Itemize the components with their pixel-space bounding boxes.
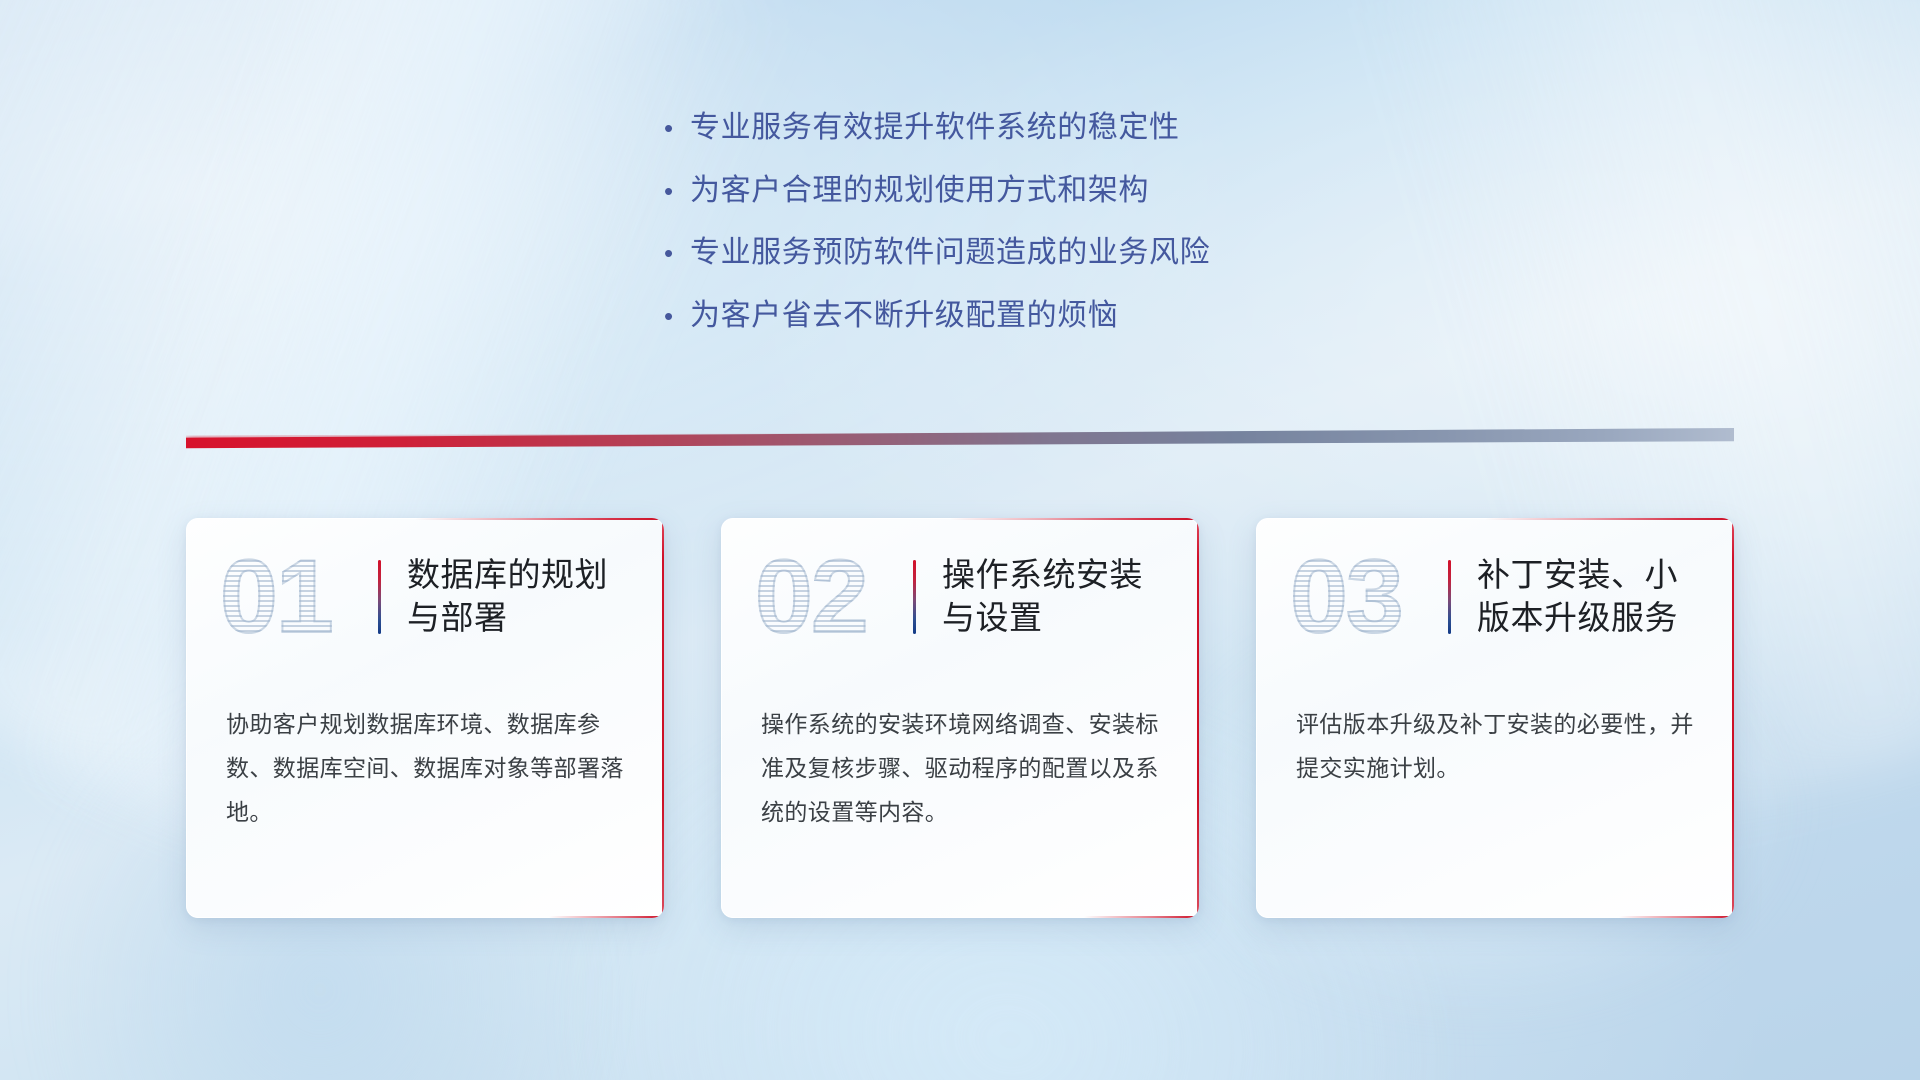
bullet-label: 专业服务有效提升软件系统的稳定性 [690, 108, 1180, 148]
bullet-label: 专业服务预防软件问题造成的业务风险 [690, 233, 1210, 273]
card-accent-bottom-line [1084, 916, 1199, 918]
list-item: • 专业服务有效提升软件系统的稳定性 [664, 108, 1464, 148]
divider-glow [186, 430, 1734, 444]
list-item: • 为客户省去不断升级配置的烦恼 [664, 296, 1464, 336]
bullet-dot-icon: • [664, 303, 690, 329]
card-title-rule [913, 560, 916, 634]
card-title-rule [378, 560, 381, 634]
bullet-label: 为客户省去不断升级配置的烦恼 [690, 296, 1118, 336]
slide-canvas: • 专业服务有效提升软件系统的稳定性 • 为客户合理的规划使用方式和架构 • 专… [0, 0, 1920, 1080]
service-card-01[interactable]: 01 数据库的规划与部署 协助客户规划数据库环境、数据库参数、数据库空间、数据库… [186, 518, 664, 918]
card-description: 协助客户规划数据库环境、数据库参数、数据库空间、数据库对象等部署落地。 [186, 676, 664, 834]
card-description: 操作系统的安装环境网络调查、安装标准及复核步骤、驱动程序的配置以及系统的设置等内… [721, 676, 1199, 834]
card-accent-bottom-line [549, 916, 664, 918]
card-description: 评估版本升级及补丁安装的必要性，并提交实施计划。 [1256, 676, 1734, 790]
card-title: 补丁安装、小版本升级服务 [1477, 554, 1708, 640]
bullet-dot-icon: • [664, 115, 690, 141]
bullet-dot-icon: • [664, 240, 690, 266]
section-divider [186, 428, 1734, 450]
service-card-02[interactable]: 02 操作系统安装与设置 操作系统的安装环境网络调查、安装标准及复核步骤、驱动程… [721, 518, 1199, 918]
card-header: 01 数据库的规划与部署 [186, 518, 664, 676]
card-accent-bottom-line [1619, 916, 1734, 918]
card-title: 操作系统安装与设置 [942, 554, 1173, 640]
benefits-bullet-list: • 专业服务有效提升软件系统的稳定性 • 为客户合理的规划使用方式和架构 • 专… [664, 108, 1464, 358]
list-item: • 专业服务预防软件问题造成的业务风险 [664, 233, 1464, 273]
bullet-dot-icon: • [664, 178, 690, 204]
card-index-number: 02 [751, 545, 905, 649]
card-title-rule [1448, 560, 1451, 634]
card-index-number: 03 [1286, 545, 1440, 649]
card-index-number: 01 [216, 545, 370, 649]
card-header: 03 补丁安装、小版本升级服务 [1256, 518, 1734, 676]
service-card-row: 01 数据库的规划与部署 协助客户规划数据库环境、数据库参数、数据库空间、数据库… [186, 518, 1734, 918]
list-item: • 为客户合理的规划使用方式和架构 [664, 171, 1464, 211]
divider-wedge [186, 428, 1734, 450]
card-header: 02 操作系统安装与设置 [721, 518, 1199, 676]
bullet-label: 为客户合理的规划使用方式和架构 [690, 171, 1149, 211]
service-card-03[interactable]: 03 补丁安装、小版本升级服务 评估版本升级及补丁安装的必要性，并提交实施计划。 [1256, 518, 1734, 918]
card-title: 数据库的规划与部署 [407, 554, 638, 640]
